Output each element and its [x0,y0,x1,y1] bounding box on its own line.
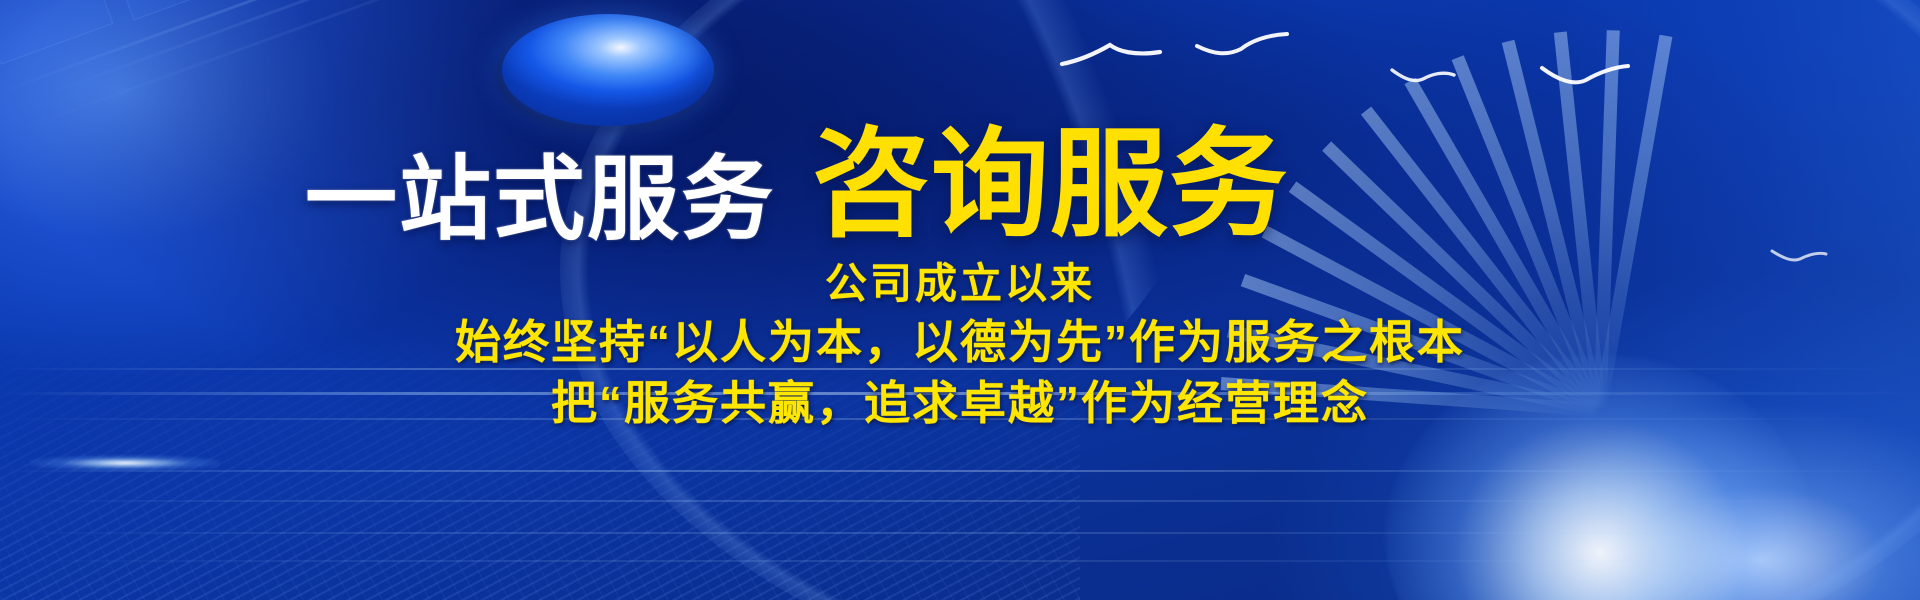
body-line: 始终坚持“以人为本，以德为先”作为服务之根本 [0,314,1920,371]
headline-block: 一站式服务 咨询服务 [0,62,1920,232]
headline-accent-yellow: 咨询服务 [812,126,1288,244]
headline-primary-white: 一站式服务 [305,154,775,246]
body-copy-block: 公司成立以来 始终坚持“以人为本，以德为先”作为服务之根本 把“服务共赢，追求卓… [0,258,1920,432]
body-line: 公司成立以来 [0,258,1920,310]
lens-flare-icon [30,455,220,471]
promo-banner: 一站式服务 咨询服务 公司成立以来 始终坚持“以人为本，以德为先”作为服务之根本… [0,0,1920,600]
body-line: 把“服务共赢，追求卓越”作为经营理念 [0,375,1920,432]
seagull-icon [1195,32,1290,60]
